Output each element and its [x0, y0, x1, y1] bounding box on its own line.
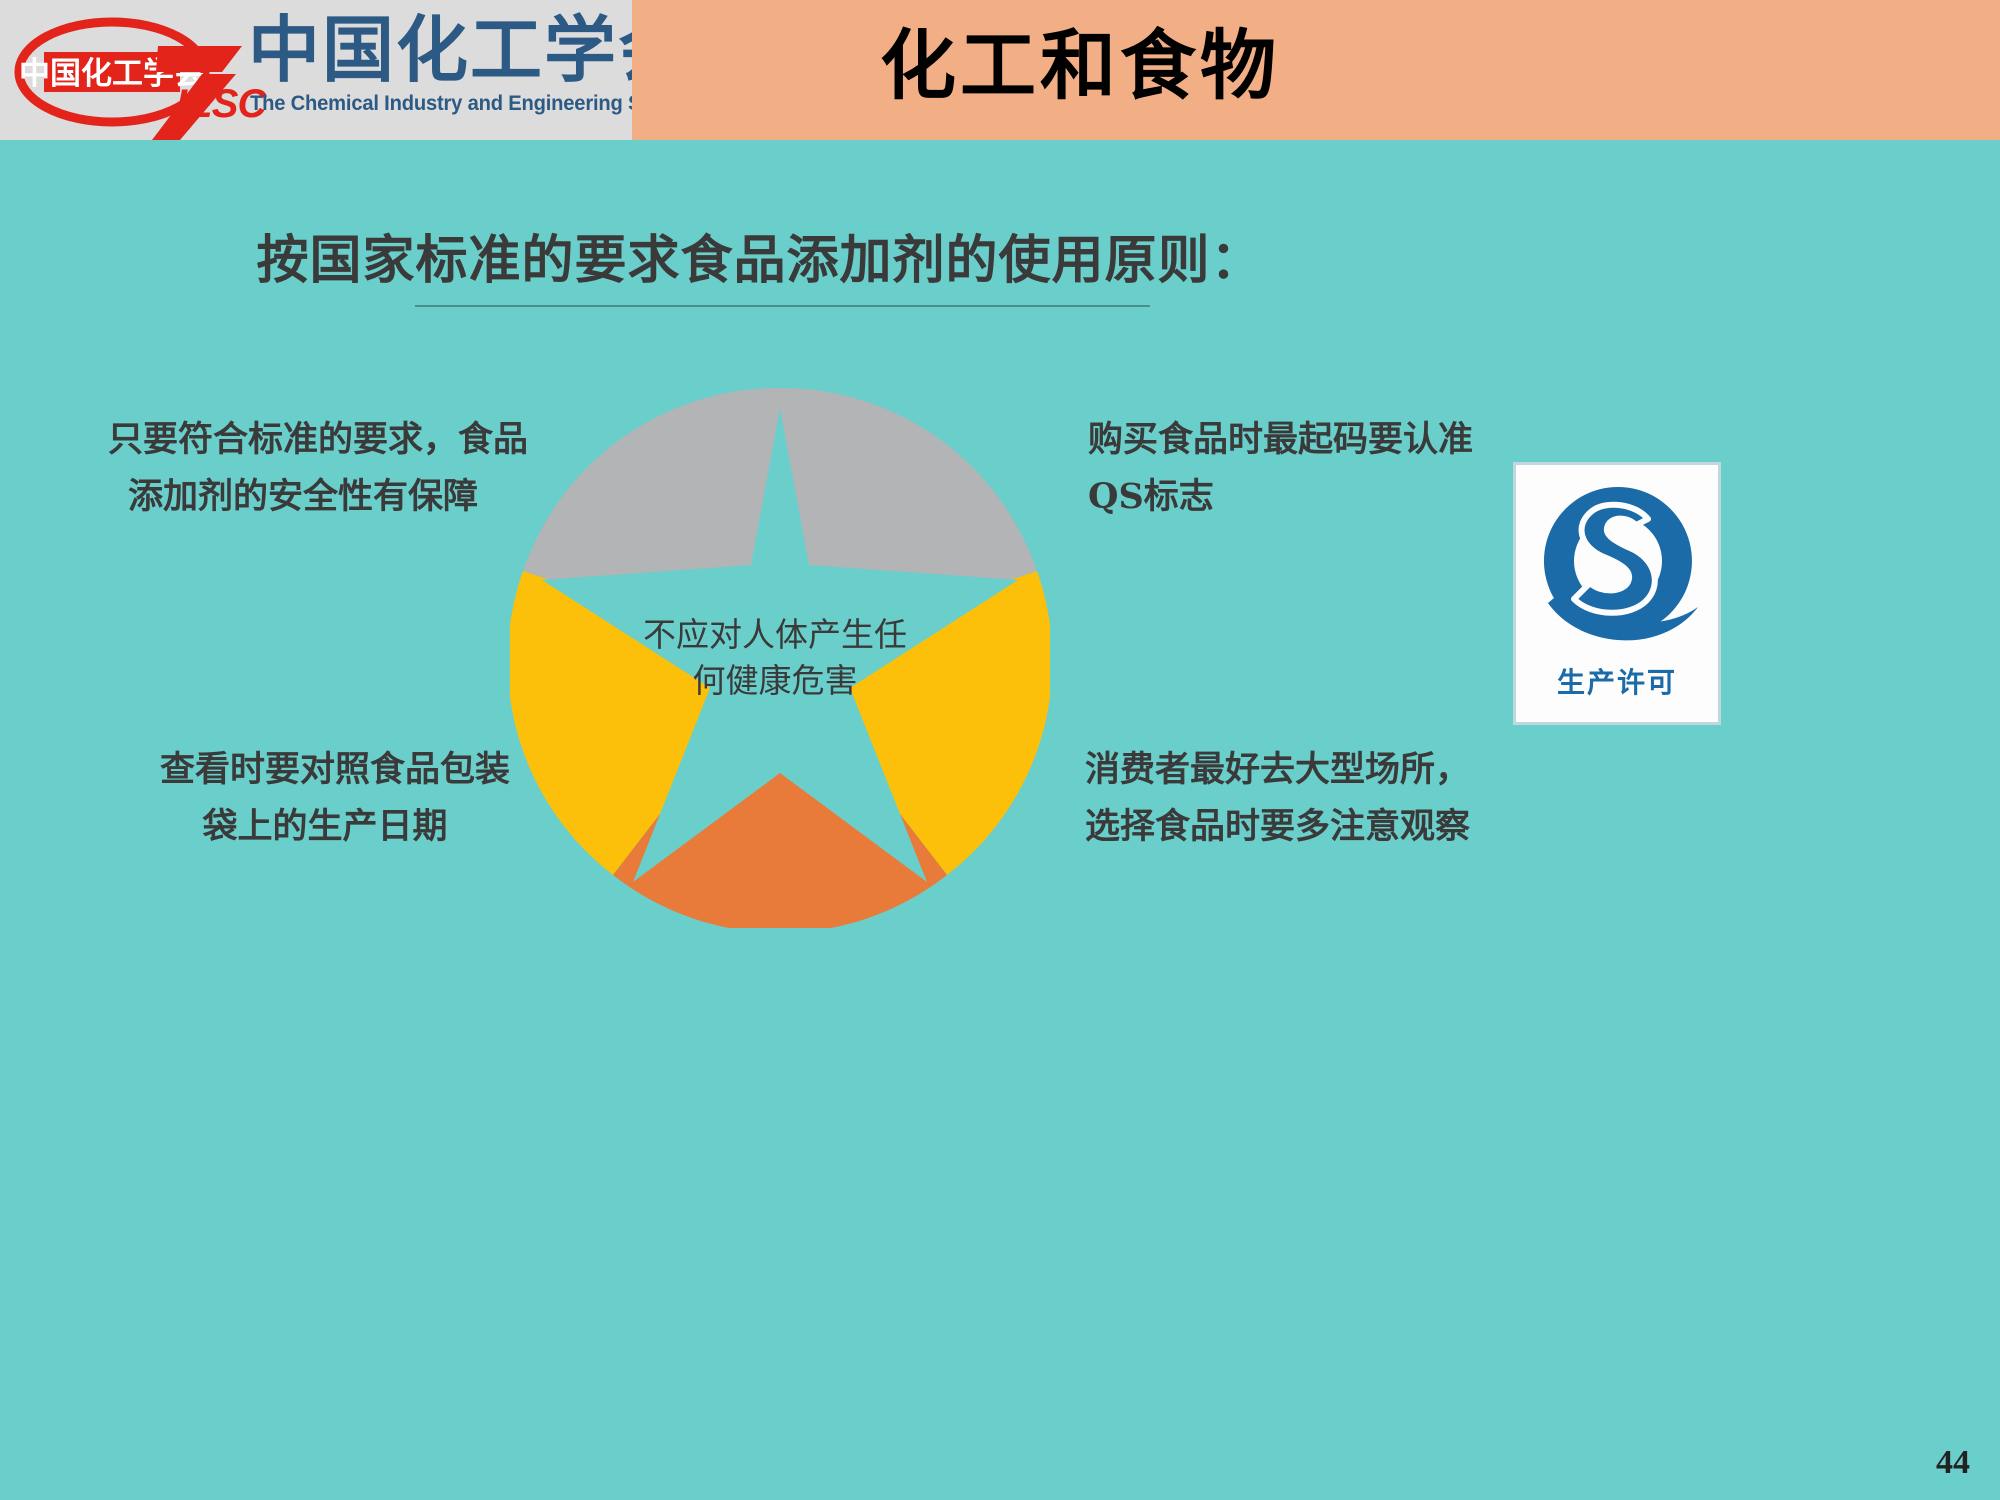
callout-center: 不应对人体产生任 何健康危害: [640, 612, 910, 704]
callout-top-right: 购买食品时最起码要认准 QS标志: [1088, 412, 1468, 525]
qs-mark-icon: [1530, 477, 1706, 663]
callout-bottom-left: 查看时要对照食品包装 袋上的生产日期: [160, 742, 490, 855]
callout-line: 查看时要对照食品包装: [160, 742, 490, 799]
callout-bottom-right: 消费者最好去大型场所， 选择食品时要多注意观察: [1085, 742, 1455, 855]
logo-english-name: The Chemical Industry and Engineering So…: [250, 92, 632, 116]
callout-line: 添加剂的安全性有保障: [108, 469, 498, 526]
qs-certification-logo: 生产许可: [1513, 462, 1721, 725]
callout-line: 只要符合标准的要求，食品: [108, 412, 498, 469]
page-title: 按国家标准的要求食品添加剂的使用原则：: [0, 218, 1520, 293]
callout-line: 何健康危害: [640, 658, 910, 704]
page-number: 44: [1936, 1444, 1970, 1482]
callout-top-left: 只要符合标准的要求，食品 添加剂的安全性有保障: [108, 412, 498, 525]
slide-canvas: 中国化工学会 IESC 中国化工学会 The Chemical Industry…: [0, 0, 2000, 1500]
header-band: 中国化工学会 IESC 中国化工学会 The Chemical Industry…: [0, 0, 2000, 140]
heading-underline-divider: [415, 305, 1150, 307]
callout-line: 消费者最好去大型场所，: [1085, 742, 1455, 799]
callout-line: 选择食品时要多注意观察: [1085, 799, 1455, 856]
callout-line: 购买食品时最起码要认准: [1088, 412, 1468, 469]
callout-line: 袋上的生产日期: [160, 799, 490, 856]
qs-caption: 生产许可: [1516, 661, 1718, 701]
callout-line: QS标志: [1088, 469, 1468, 526]
logo-chinese-name: 中国化工学会: [248, 14, 632, 86]
society-logo: 中国化工学会 IESC 中国化工学会 The Chemical Industry…: [0, 0, 632, 140]
callout-line: 不应对人体产生任: [640, 612, 910, 658]
slide-title: 化工和食物: [860, 22, 1300, 109]
